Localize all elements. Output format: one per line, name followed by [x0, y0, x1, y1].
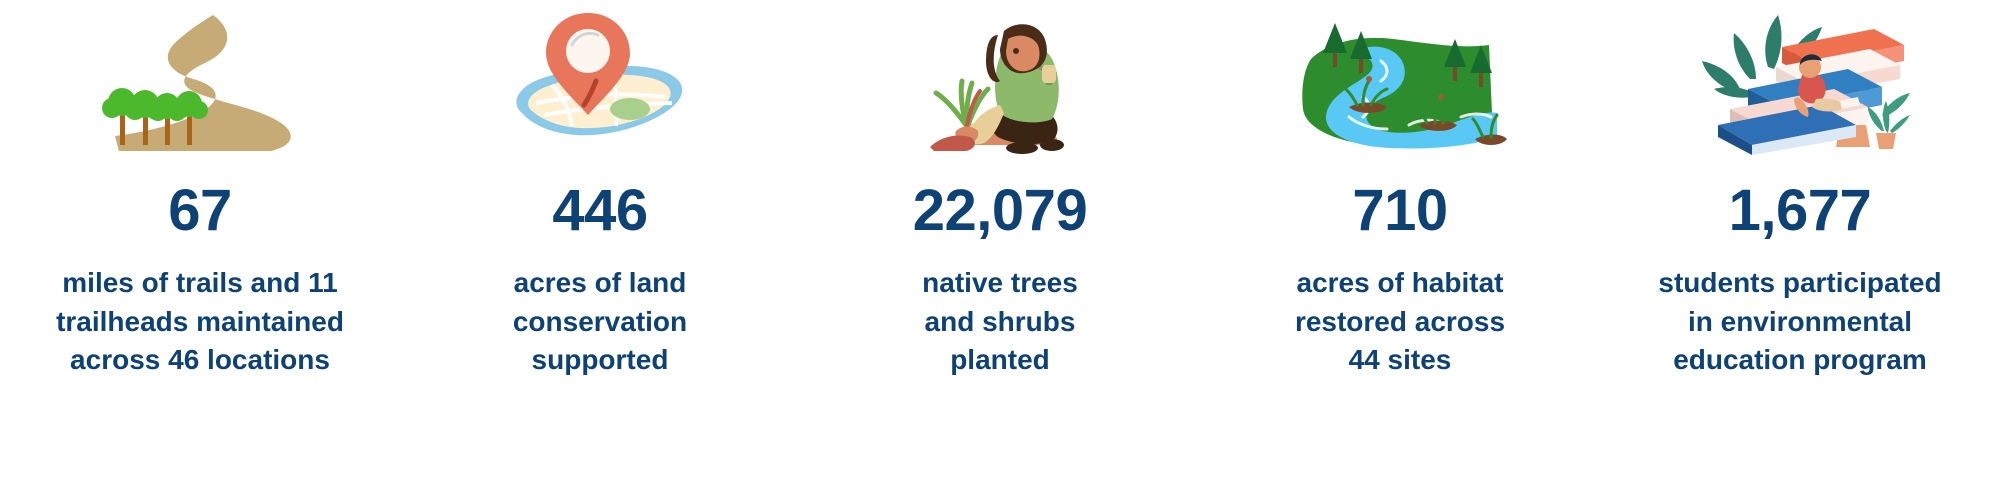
stat-value: 1,677: [1729, 182, 1872, 240]
stat-card-students-educated: 1,677 students participated in environme…: [1600, 0, 2000, 500]
caption-line: acres of habitat: [1295, 264, 1505, 303]
caption-line: in environmental: [1658, 303, 1941, 342]
caption-line: acres of land: [513, 264, 687, 303]
map-pin-icon: [400, 0, 800, 160]
caption-line: planted: [922, 341, 1078, 380]
stat-value: 67: [168, 182, 232, 240]
stat-value: 710: [1352, 182, 1447, 240]
stat-card-habitat-restored: 710 acres of habitat restored across 44 …: [1200, 0, 1600, 500]
stat-caption: acres of habitat restored across 44 site…: [1289, 264, 1511, 380]
caption-line: across 46 locations: [56, 341, 344, 380]
stream-habitat-icon: [1200, 0, 1600, 160]
caption-line: native trees: [922, 264, 1078, 303]
stat-caption: miles of trails and 11 trailheads mainta…: [50, 264, 350, 380]
stat-card-trees-planted: 22,079 native trees and shrubs planted: [800, 0, 1200, 500]
caption-line: 44 sites: [1295, 341, 1505, 380]
caption-line: restored across: [1295, 303, 1505, 342]
caption-line: education program: [1658, 341, 1941, 380]
stat-value: 446: [552, 182, 647, 240]
impact-stats-band: 67 miles of trails and 11 trailheads mai…: [0, 0, 2000, 500]
person-planting-icon: [800, 0, 1200, 160]
stat-value: 22,079: [913, 182, 1087, 240]
caption-line: supported: [513, 341, 687, 380]
stat-caption: acres of land conservation supported: [507, 264, 693, 380]
book-stack-icon: [1600, 0, 2000, 160]
caption-line: students participated: [1658, 264, 1941, 303]
stat-card-trails: 67 miles of trails and 11 trailheads mai…: [0, 0, 400, 500]
caption-line: miles of trails and 11: [56, 264, 344, 303]
stat-caption: students participated in environmental e…: [1652, 264, 1947, 380]
caption-line: trailheads maintained: [56, 303, 344, 342]
winding-trail-icon: [0, 0, 400, 160]
stat-caption: native trees and shrubs planted: [916, 264, 1084, 380]
stat-card-land-conservation: 446 acres of land conservation supported: [400, 0, 800, 500]
caption-line: conservation: [513, 303, 687, 342]
caption-line: and shrubs: [922, 303, 1078, 342]
